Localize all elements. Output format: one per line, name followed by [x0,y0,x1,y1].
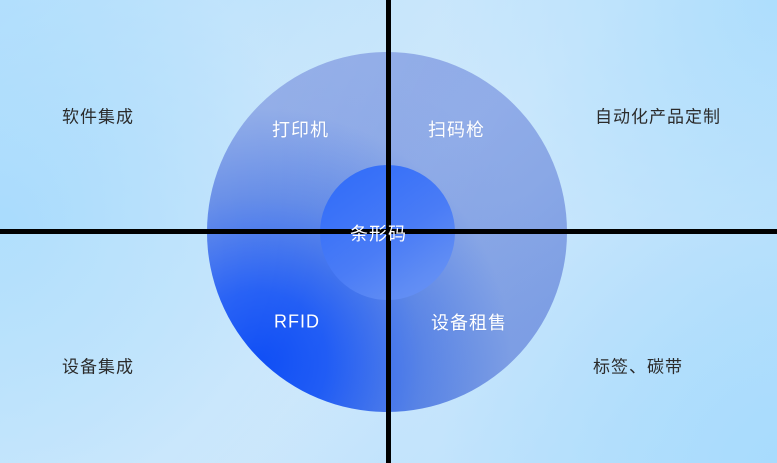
segment-label-rfid: RFID [274,312,320,333]
center-label-barcode: 条形码 [350,220,407,246]
segment-label-equipment-rental: 设备租售 [431,309,507,335]
outer-label-automation-customization: 自动化产品定制 [595,103,721,128]
outer-label-labels-ribbons: 标签、碳带 [593,353,683,378]
outer-label-equipment-integration: 设备集成 [62,353,134,378]
segment-label-printer: 打印机 [272,116,329,142]
segment-label-scanner: 扫码枪 [428,116,485,142]
diagram-canvas: 打印机 扫码枪 RFID 设备租售 条形码 软件集成 自动化产品定制 设备集成 … [0,0,777,463]
outer-label-software-integration: 软件集成 [62,103,134,128]
